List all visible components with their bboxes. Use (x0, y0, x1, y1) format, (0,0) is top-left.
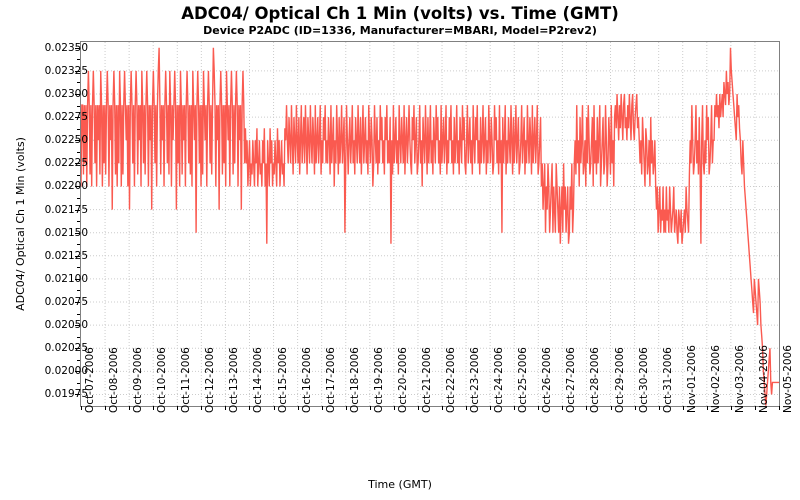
y-axis-tick-mark (75, 233, 80, 234)
x-axis-tick-mark (201, 406, 202, 410)
x-axis-tick-label: Oct-21-2006 (422, 347, 433, 413)
y-axis-minor-tick (77, 290, 80, 291)
x-axis-tick-mark (635, 406, 636, 410)
x-axis-tick-mark (586, 406, 587, 410)
x-axis-tick-label: Nov-03-2006 (735, 345, 746, 413)
x-axis-tick-mark (81, 406, 82, 410)
y-axis-minor-tick (77, 267, 80, 268)
x-axis-tick-label: Oct-27-2006 (566, 347, 577, 413)
x-axis-tick-mark (490, 406, 491, 410)
x-axis-tick-mark (177, 406, 178, 410)
x-axis-tick-label: Oct-11-2006 (181, 347, 192, 413)
y-axis-minor-tick (77, 244, 80, 245)
y-axis-tick-mark (75, 302, 80, 303)
x-axis-tick-label: Nov-04-2006 (759, 345, 770, 413)
y-axis-tick-label: 0.02025 (45, 343, 88, 354)
y-axis-tick-mark (75, 140, 80, 141)
y-axis-tick-mark (75, 279, 80, 280)
x-axis-tick-label: Oct-28-2006 (590, 347, 601, 413)
y-axis-minor-tick (77, 360, 80, 361)
y-axis-minor-tick (77, 383, 80, 384)
x-axis-tick-label: Oct-09-2006 (133, 347, 144, 413)
y-axis-tick-mark (75, 348, 80, 349)
y-axis-tick-label: 0.02200 (45, 181, 88, 192)
x-axis-tick-mark (683, 406, 684, 410)
x-axis-tick-label: Oct-23-2006 (470, 347, 481, 413)
y-axis-tick-label: 0.02300 (45, 89, 88, 100)
y-axis-tick-mark (75, 163, 80, 164)
x-axis-tick-mark (153, 406, 154, 410)
y-axis-tick-label: 0.02225 (45, 158, 88, 169)
y-axis-minor-tick (77, 175, 80, 176)
x-axis-tick-mark (298, 406, 299, 410)
y-axis-minor-tick (77, 82, 80, 83)
y-axis-tick-label: 0.01975 (45, 389, 88, 400)
y-axis-tick-label: 0.02150 (45, 227, 88, 238)
y-axis-tick-label: 0.02050 (45, 320, 88, 331)
x-axis-tick-label: Oct-31-2006 (663, 347, 674, 413)
y-axis-tick-label: 0.02275 (45, 112, 88, 123)
x-axis-label: Time (GMT) (0, 478, 800, 491)
x-axis-tick-mark (129, 406, 130, 410)
chart-title: ADC04/ Optical Ch 1 Min (volts) vs. Time… (0, 4, 800, 23)
y-axis-tick-mark (75, 325, 80, 326)
x-axis-tick-mark (274, 406, 275, 410)
y-axis-minor-tick (77, 59, 80, 60)
x-axis-tick-mark (731, 406, 732, 410)
y-axis-label: ADC04/ Optical Ch 1 Min (volts) (14, 137, 27, 311)
x-axis-tick-label: Oct-10-2006 (157, 347, 168, 413)
x-axis-tick-mark (418, 406, 419, 410)
y-axis-tick-label: 0.02075 (45, 297, 88, 308)
x-axis-tick-label: Oct-14-2006 (253, 347, 264, 413)
y-axis-tick-label: 0.02125 (45, 251, 88, 262)
y-axis-tick-mark (75, 210, 80, 211)
x-axis-tick-mark (370, 406, 371, 410)
x-axis-tick-label: Nov-05-2006 (783, 345, 794, 413)
x-axis-tick-label: Oct-30-2006 (639, 347, 650, 413)
y-axis-tick-mark (75, 371, 80, 372)
x-axis-tick-mark (659, 406, 660, 410)
y-axis-minor-tick (77, 152, 80, 153)
x-axis-tick-mark (538, 406, 539, 410)
x-axis-tick-mark (105, 406, 106, 410)
x-axis-tick-mark (394, 406, 395, 410)
x-axis-tick-mark (346, 406, 347, 410)
x-axis-tick-mark (707, 406, 708, 410)
y-axis-tick-label: 0.02350 (45, 43, 88, 54)
x-axis-tick-mark (322, 406, 323, 410)
y-axis-tick-mark (75, 48, 80, 49)
chart-subtitle: Device P2ADC (ID=1336, Manufacturer=MBAR… (0, 24, 800, 37)
x-axis-tick-mark (562, 406, 563, 410)
y-axis-tick-mark (75, 186, 80, 187)
x-axis-tick-label: Oct-19-2006 (374, 347, 385, 413)
x-axis-tick-label: Oct-16-2006 (302, 347, 313, 413)
x-axis-tick-label: Oct-25-2006 (518, 347, 529, 413)
x-axis-tick-mark (779, 406, 780, 410)
x-axis-tick-label: Oct-22-2006 (446, 347, 457, 413)
x-axis-tick-label: Oct-08-2006 (109, 347, 120, 413)
x-axis-tick-mark (611, 406, 612, 410)
y-axis-tick-label: 0.02250 (45, 135, 88, 146)
x-axis-tick-label: Oct-12-2006 (205, 347, 216, 413)
x-axis-tick-label: Oct-15-2006 (278, 347, 289, 413)
y-axis-minor-tick (77, 221, 80, 222)
x-axis-tick-label: Nov-01-2006 (687, 345, 698, 413)
x-axis-tick-label: Oct-24-2006 (494, 347, 505, 413)
x-axis-tick-label: Oct-26-2006 (542, 347, 553, 413)
x-axis-tick-label: Oct-20-2006 (398, 347, 409, 413)
y-axis-minor-tick (77, 337, 80, 338)
y-axis-tick-label: 0.02175 (45, 204, 88, 215)
x-axis-tick-mark (249, 406, 250, 410)
x-axis-tick-mark (514, 406, 515, 410)
y-axis-tick-mark (75, 71, 80, 72)
x-axis-tick-label: Oct-18-2006 (350, 347, 361, 413)
chart-figure: ADC04/ Optical Ch 1 Min (volts) vs. Time… (0, 0, 800, 500)
x-axis-tick-label: Oct-13-2006 (229, 347, 240, 413)
y-axis-tick-label: 0.02325 (45, 66, 88, 77)
y-axis-minor-tick (77, 106, 80, 107)
x-axis-tick-label: Oct-17-2006 (326, 347, 337, 413)
x-axis-tick-mark (225, 406, 226, 410)
x-axis-tick-label: Oct-07-2006 (85, 347, 96, 413)
x-axis-tick-mark (442, 406, 443, 410)
x-axis-tick-label: Oct-29-2006 (615, 347, 626, 413)
y-axis-tick-label: 0.02100 (45, 274, 88, 285)
y-axis-tick-mark (75, 94, 80, 95)
y-axis-tick-mark (75, 256, 80, 257)
x-axis-tick-mark (466, 406, 467, 410)
x-axis-tick-label: Nov-02-2006 (711, 345, 722, 413)
y-axis-minor-tick (77, 129, 80, 130)
y-axis-minor-tick (77, 314, 80, 315)
y-axis-tick-label: 0.02000 (45, 366, 88, 377)
y-axis-tick-mark (75, 117, 80, 118)
y-axis-minor-tick (77, 198, 80, 199)
y-axis-tick-mark (75, 394, 80, 395)
x-axis-tick-mark (755, 406, 756, 410)
